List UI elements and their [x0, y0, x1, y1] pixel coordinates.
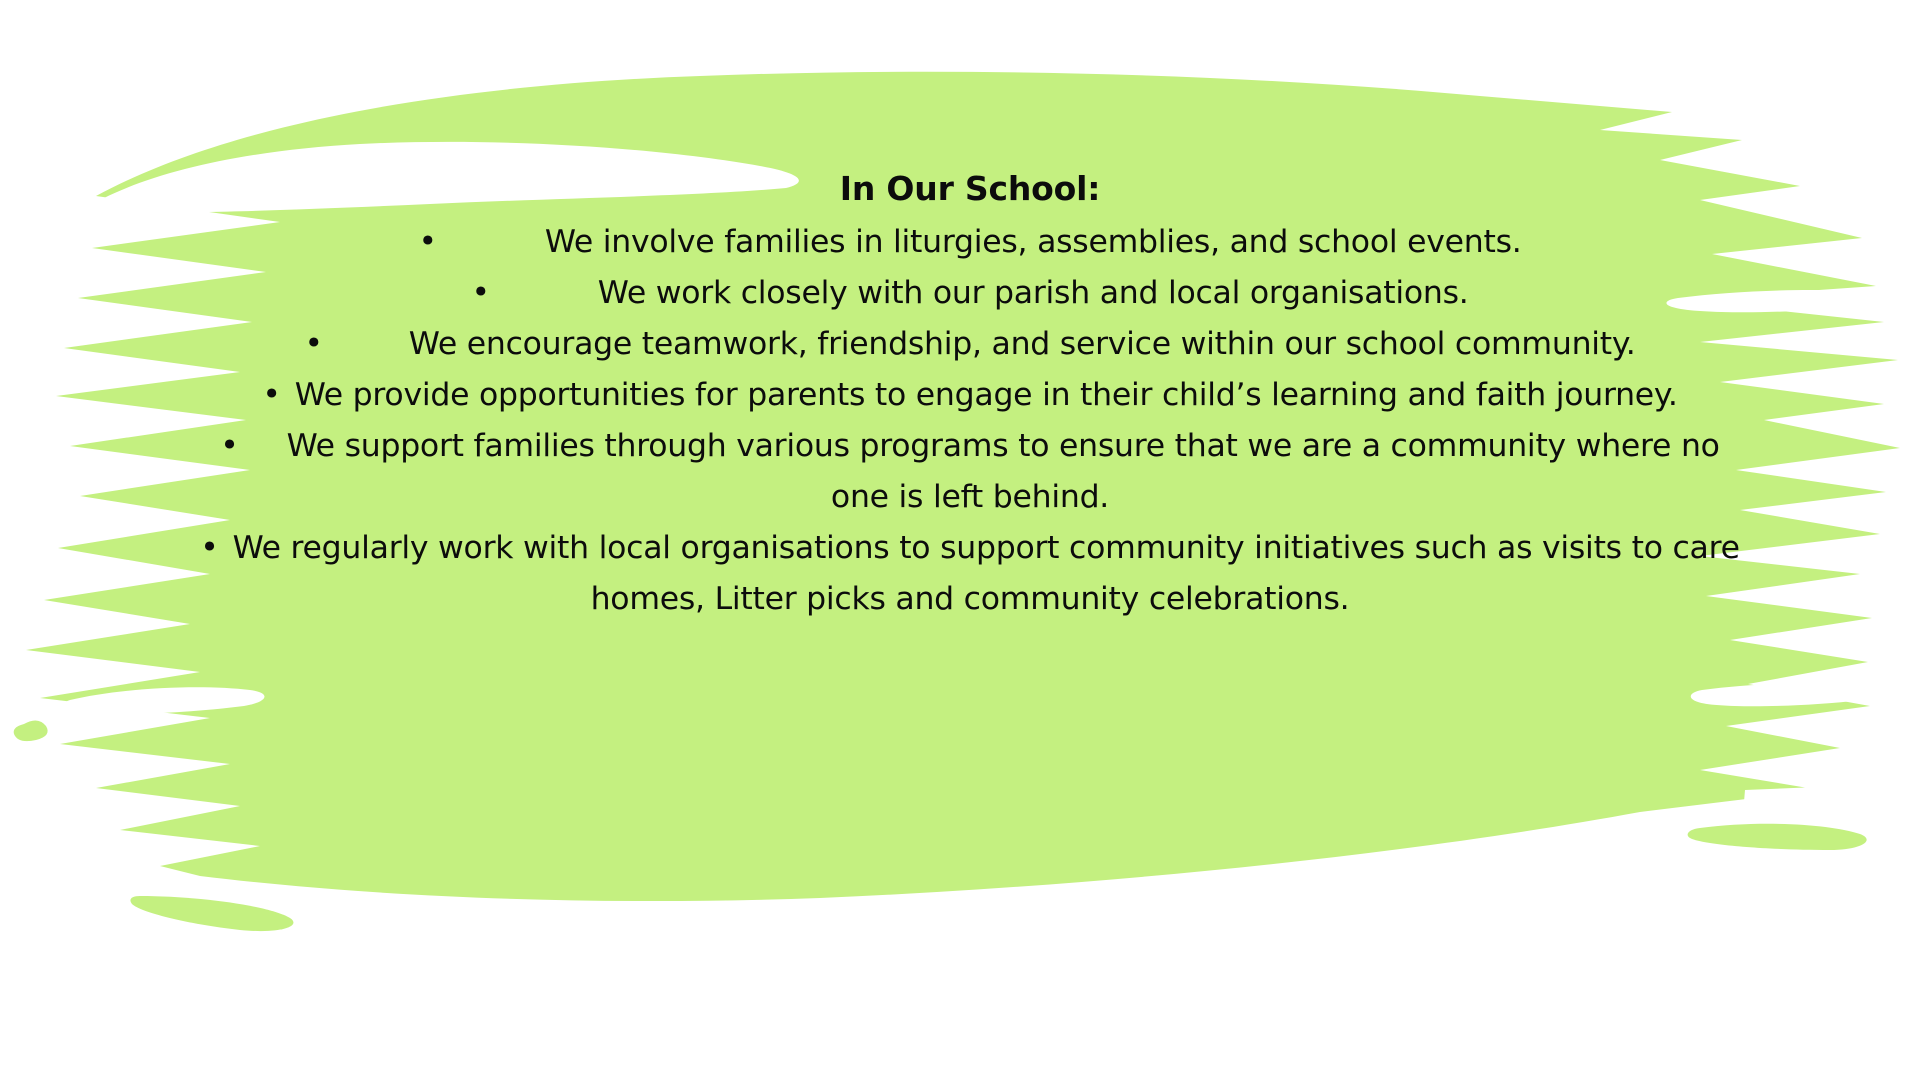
- list-item-text: We encourage teamwork, friendship, and s…: [409, 326, 1636, 362]
- brush-speck-left: [14, 720, 48, 741]
- slide-canvas: In Our School: •We involve families in l…: [0, 0, 1920, 1080]
- list-item: •We regularly work with local organisati…: [190, 523, 1750, 625]
- bullet-icon: •: [220, 427, 238, 463]
- bullet-icon: •: [418, 223, 436, 259]
- bullet-icon: •: [200, 529, 218, 565]
- text-block: In Our School: •We involve families in l…: [190, 168, 1750, 625]
- brush-notch-bottom-left: [130, 896, 293, 931]
- list-item-text: We provide opportunities for parents to …: [295, 377, 1678, 413]
- list-item: •We involve families in liturgies, assem…: [190, 217, 1750, 268]
- bullet-icon: •: [471, 274, 489, 310]
- brush-gap-right-dash: [1744, 786, 1842, 802]
- list-item: •We provide opportunities for parents to…: [190, 370, 1750, 421]
- bullet-icon: •: [262, 376, 280, 412]
- list-item-text: We work closely with our parish and loca…: [598, 275, 1469, 311]
- list-item-text: We support families through various prog…: [287, 428, 1720, 515]
- brush-gap-right-lower: [1691, 683, 1886, 706]
- brush-tail-bottom-right: [1688, 824, 1867, 850]
- brush-gap-mid-left: [64, 687, 265, 714]
- bullet-list: •We involve families in liturgies, assem…: [190, 217, 1750, 625]
- list-item-text: We involve families in liturgies, assemb…: [545, 224, 1522, 260]
- list-item-text: We regularly work with local organisatio…: [233, 530, 1740, 617]
- list-item: •We work closely with our parish and loc…: [190, 268, 1750, 319]
- list-item: •We support families through various pro…: [190, 421, 1750, 523]
- list-item: •We encourage teamwork, friendship, and …: [190, 319, 1750, 370]
- page-title: In Our School:: [190, 168, 1750, 210]
- bullet-icon: •: [304, 325, 322, 361]
